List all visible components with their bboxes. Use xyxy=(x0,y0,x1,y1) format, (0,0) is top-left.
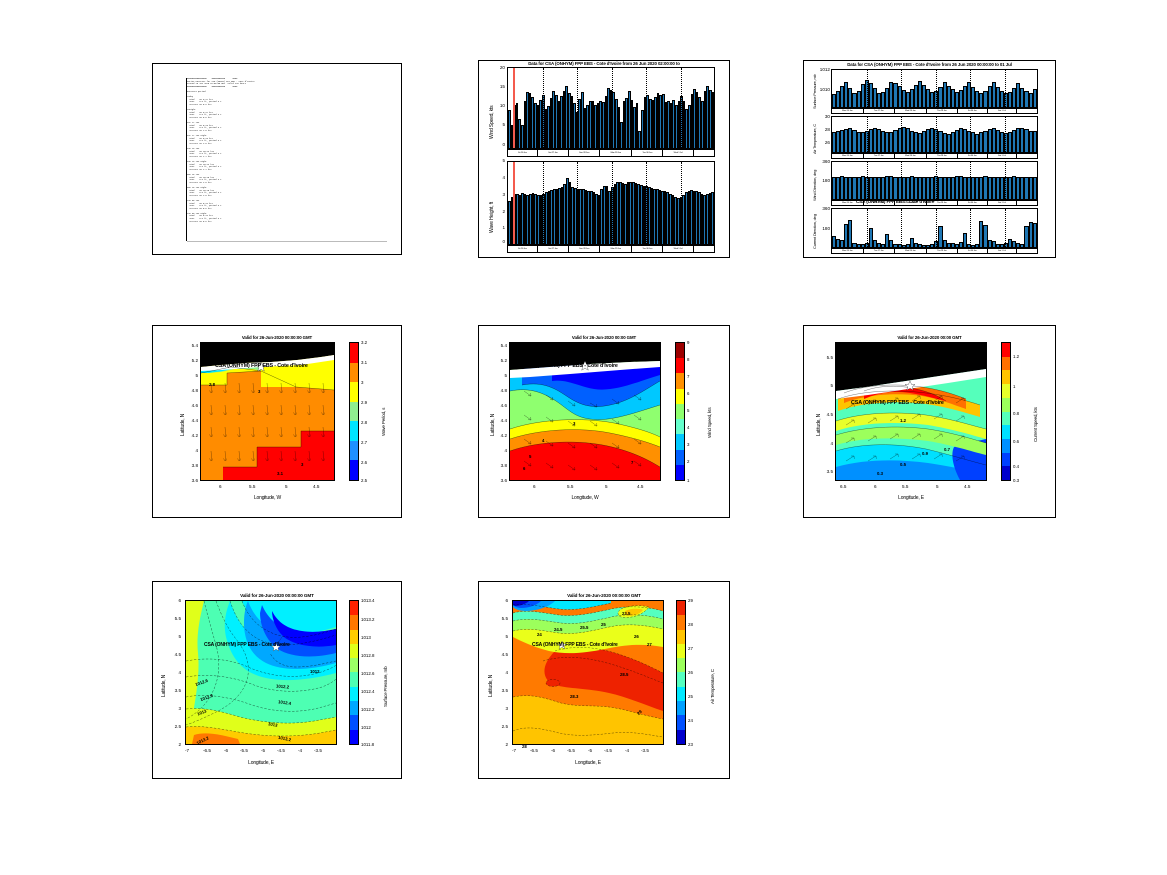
date-tick-label: Mon 29 Jun xyxy=(600,246,632,252)
date-tick-label: Mon 26 Jun xyxy=(832,154,864,158)
date-tick-label: Tue 27 Jun xyxy=(864,109,895,113)
date-tick-label: Sat 27 Jun xyxy=(538,150,569,156)
contour-label: 0.7 xyxy=(944,447,950,452)
current-speed-map-title: Valid for 26-Jun-2020 00:00 GMT xyxy=(804,335,1055,340)
wind-date-axis: Fri 26 JunSat 27 JunSun 28 JunMon 29 Jun… xyxy=(507,149,715,157)
contour-label: 1.2 xyxy=(900,418,906,423)
project-overlay-label: CSA (ONHYM) FPP EBS - Cote d'Ivoire xyxy=(851,400,944,406)
date-tick-label: Fri 30 Jun xyxy=(958,201,988,205)
bar xyxy=(1033,89,1037,107)
wind-speed-map-panel: Valid for 26-Jun-2020 00:00 GMT xyxy=(478,325,730,518)
date-tick-label: Fri 26 Jun xyxy=(508,246,538,252)
bar xyxy=(712,92,715,148)
air-temperature-colorbar xyxy=(676,600,686,745)
current-speed-colorbar xyxy=(1001,342,1011,481)
wind-speed-axes xyxy=(507,67,715,149)
current-speed-map-axes xyxy=(835,342,987,481)
date-axis-pad xyxy=(1017,201,1037,205)
wind-speed-colorbar-label: Wind Speed, kts xyxy=(707,408,712,438)
contour-label: 7 xyxy=(631,460,633,465)
contour-label: 25.5 xyxy=(580,625,588,630)
temperature-date-axis: Mon 26 JunTue 27 JunWed 28 JunThu 29 Jun… xyxy=(831,153,1038,159)
surface-pressure-map-xlabel: Longitude, E xyxy=(185,760,337,766)
date-tick-label: Tue 27 Jun xyxy=(864,249,895,253)
project-overlay-label: CSA (ONHYM) FPP EBS - Cote d'Ivoire xyxy=(215,363,308,369)
wind-speed-colorbar xyxy=(675,342,685,481)
contour-label: 28.3 xyxy=(570,694,578,699)
cdir-ytick: 180 xyxy=(814,226,830,231)
date-tick-label: Mon 26 Jun xyxy=(832,249,864,253)
met-ocean-chart-title: Data for CSA (ONHYM) FPP EBS - Cote d'Iv… xyxy=(804,62,1055,67)
wave-period-map-panel: Valid for 26-Jun-2020 00:00:00 GMT xyxy=(152,325,402,518)
current-direction-ylabel: Current Direction, deg xyxy=(812,214,817,249)
contour-label: 27 xyxy=(647,642,652,647)
date-axis-pad xyxy=(1017,249,1037,253)
pres-ytick: 1010 xyxy=(814,87,830,92)
date-tick-label: Sat 1 Jul xyxy=(988,109,1017,113)
air-temperature-map-xlabel: Longitude, E xyxy=(512,760,664,766)
contour-label: 3 xyxy=(258,389,260,394)
date-tick-label: Sat 1 Jul xyxy=(988,154,1017,158)
date-tick-label: Tue 30 Jun xyxy=(632,246,663,252)
bar xyxy=(1033,131,1037,152)
date-tick-label: Wed 1 Jul xyxy=(663,246,693,252)
wind-ytick: 15 xyxy=(493,84,505,89)
wind-wave-timeseries-panel: Data for CSA (ONHYM) FPP EBS - Cote d'Iv… xyxy=(478,60,730,258)
pres-ytick: 1012 xyxy=(814,67,830,72)
wave-period-colorbar-label: Wave Period, s xyxy=(381,408,386,436)
date-axis-pad xyxy=(694,150,714,156)
wdir-ytick: 360 xyxy=(814,159,830,164)
wave-ytick: 2 xyxy=(493,209,505,214)
wind-direction-bars xyxy=(832,162,1037,199)
project-overlay-label: CSA (ONHYM) FPP EBS - Cote d'Ivoire xyxy=(204,642,290,648)
date-tick-label: Wed 28 Jun xyxy=(895,109,927,113)
contour-label: 4 xyxy=(542,438,544,443)
current-direction-axes xyxy=(831,208,1038,248)
date-tick-label: Sun 28 Jun xyxy=(569,150,600,156)
date-tick-label: Mon 26 Jun xyxy=(832,109,864,113)
project-overlay-label: CSA (ONHYM) FPP EBS - Cote d'Ivoire xyxy=(532,642,618,648)
wave-height-axes xyxy=(507,161,715,245)
wave-ytick: 5 xyxy=(493,158,505,163)
contour-label: 0.5 xyxy=(900,462,906,467)
date-tick-label: Fri 26 Jun xyxy=(508,150,538,156)
air-temperature-bars xyxy=(832,117,1037,152)
date-tick-label: Sat 1 Jul xyxy=(988,249,1017,253)
wind-direction-axes xyxy=(831,161,1038,200)
date-axis-pad xyxy=(1017,109,1037,113)
wave-ytick: 4 xyxy=(493,175,505,180)
pressure-date-axis: Mon 26 JunTue 27 JunWed 28 JunThu 29 Jun… xyxy=(831,108,1038,114)
wind-ytick: 0 xyxy=(493,142,505,147)
temp-ytick: 28 xyxy=(816,127,830,132)
temp-ytick: 30 xyxy=(816,114,830,119)
contour-label: 1012.2 xyxy=(276,683,290,689)
date-tick-label: Fri 30 Jun xyxy=(958,109,988,113)
wind-wave-chart-title: Data for CSA (ONHYM) FPP EBS - Cote d'Iv… xyxy=(479,61,729,66)
date-tick-label: Wed 1 Jul xyxy=(663,150,693,156)
air-temperature-map-ylabel: Latitude, N xyxy=(488,675,494,697)
contour-label: 24 xyxy=(537,632,542,637)
date-tick-label: Mon 29 Jun xyxy=(600,150,632,156)
date-tick-label: Sun 28 Jun xyxy=(569,246,600,252)
bar xyxy=(711,192,714,244)
date-tick-label: Sat 27 Jun xyxy=(538,246,569,252)
surface-pressure-colorbar xyxy=(349,600,359,745)
cdir-ytick: 360 xyxy=(814,206,830,211)
bar xyxy=(1033,177,1037,199)
current-time-marker xyxy=(513,68,515,148)
forecast-text-report-panel: ================ =========== ==== Marine… xyxy=(152,63,402,255)
current-direction-bars xyxy=(832,209,1037,247)
wdir-ytick: 180 xyxy=(814,178,830,183)
date-tick-label: Sat 1 Jul xyxy=(988,201,1017,205)
air-temperature-axes xyxy=(831,116,1038,153)
current-speed-colorbar-label: Current Speed, kts xyxy=(1033,407,1038,442)
wave-date-axis: Fri 26 JunSat 27 JunSun 28 JunMon 29 Jun… xyxy=(507,245,715,253)
contour-label: 6 xyxy=(523,466,525,471)
contour-label: 3 xyxy=(301,462,303,467)
contour-label: 5 xyxy=(529,454,531,459)
surface-pressure-map-ylabel: Latitude, N xyxy=(161,675,167,697)
wind-speed-map-xlabel: Longitude, W xyxy=(509,495,661,501)
temp-ytick: 26 xyxy=(816,140,830,145)
wave-ytick: 1 xyxy=(493,225,505,230)
air-temperature-contours xyxy=(513,601,663,744)
forecast-report-text: ================ =========== ==== Marine… xyxy=(187,78,255,223)
wave-ytick: 3 xyxy=(493,192,505,197)
date-tick-label: Tue 27 Jun xyxy=(864,154,895,158)
date-tick-label: Wed 28 Jun xyxy=(895,249,927,253)
air-temperature-map-panel: Valid for 26-Jun-2020 00:00:00 GMT xyxy=(478,581,730,779)
wind-ytick: 10 xyxy=(493,103,505,108)
wind-speed-map-title: Valid for 26-Jun-2020 00:00 GMT xyxy=(479,335,729,340)
current-speed-map-xlabel: Longitude, E xyxy=(835,495,987,501)
date-tick-label: Fri 30 Jun xyxy=(958,154,988,158)
date-axis-pad xyxy=(694,246,714,252)
contour-label: 1012 xyxy=(310,669,320,674)
date-tick-label: Thu 29 Jun xyxy=(927,154,958,158)
contour-label: 3.1 xyxy=(277,471,283,476)
current-speed-contours xyxy=(836,343,986,480)
contour-label: 26 xyxy=(634,634,639,639)
surface-pressure-axes xyxy=(831,69,1038,108)
wave-period-xlabel: Longitude, W xyxy=(200,495,335,501)
date-tick-label: Tue 30 Jun xyxy=(632,150,663,156)
surface-pressure-map-panel: Valid for 26-Jun-2020 00:00:00 GMT xyxy=(152,581,402,779)
air-temperature-map-axes xyxy=(512,600,664,745)
wave-ytick: 0 xyxy=(493,239,505,244)
contour-label: 0.3 xyxy=(877,471,883,476)
surface-pressure-colorbar-label: Surface Pressure, mb xyxy=(383,667,388,707)
current-time-marker xyxy=(513,162,515,244)
project-overlay-label: CSA (ONHYM) FPP EBS - Cote d'Ivoire xyxy=(856,199,934,204)
current-direction-date-axis: Mon 26 JunTue 27 JunWed 28 JunThu 29 Jun… xyxy=(831,248,1038,254)
contour-label: 28.5 xyxy=(620,672,628,677)
contour-label: 3 xyxy=(573,421,575,426)
wave-period-colorbar xyxy=(349,342,359,481)
contour-label: 2.8 xyxy=(209,382,215,387)
air-temperature-colorbar-label: Air Temperature, C xyxy=(710,669,715,704)
current-speed-map-ylabel: Latitude, N xyxy=(816,414,822,436)
contour-label: 23.5 xyxy=(622,611,630,616)
contour-label: 24.5 xyxy=(554,627,562,632)
project-overlay-label: CSA (ONHYM) FPP EBS - Cote d'Ivoire xyxy=(525,363,618,369)
contour-label: 0.9 xyxy=(922,451,928,456)
doc-divider xyxy=(187,241,387,242)
current-speed-map-panel: Valid for 26-Jun-2020 00:00 GMT xyxy=(803,325,1056,518)
date-tick-label: Wed 28 Jun xyxy=(895,154,927,158)
wind-direction-ylabel: Wind Direction, deg xyxy=(812,170,817,201)
wind-ytick: 5 xyxy=(493,122,505,127)
date-tick-label: Thu 29 Jun xyxy=(927,109,958,113)
date-tick-label: Thu 29 Jun xyxy=(927,249,958,253)
bar xyxy=(1033,223,1037,247)
date-axis-pad xyxy=(1017,154,1037,158)
met-ocean-timeseries-panel: Data for CSA (ONHYM) FPP EBS - Cote d'Iv… xyxy=(803,60,1056,258)
contour-label: 28 xyxy=(522,744,527,749)
wind-ytick: 20 xyxy=(493,65,505,70)
surface-pressure-bars xyxy=(832,70,1037,107)
date-tick-label: Fri 30 Jun xyxy=(958,249,988,253)
contour-label: 25 xyxy=(601,622,606,627)
